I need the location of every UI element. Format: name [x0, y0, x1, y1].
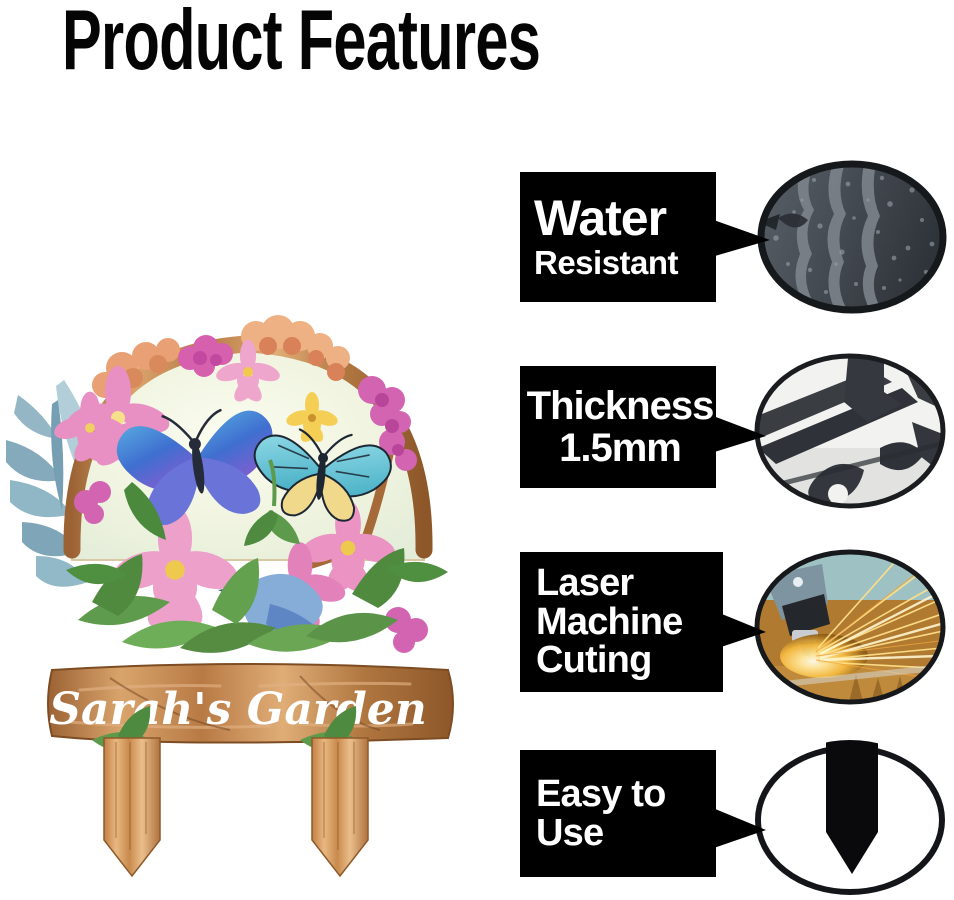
sign-name-text: Sarah's Garden	[49, 684, 427, 735]
feature-image-ground-stake	[752, 740, 948, 898]
feature-label-line: Water	[534, 193, 706, 244]
feature-label-water-resistant: Water Resistant	[520, 172, 716, 302]
feature-laser-cutting: Laser Machine Cuting	[508, 548, 954, 708]
feature-label-line: 1.5mm	[559, 428, 681, 469]
feature-image-laser-sparks	[752, 548, 948, 706]
feature-label-line: Use	[536, 814, 708, 853]
feature-label-line: Machine	[536, 603, 715, 642]
feature-label-line: Cuting	[536, 641, 715, 680]
pointer-arrow	[708, 408, 766, 460]
feature-label-line: Thickness	[527, 386, 714, 427]
feature-label-laser-cutting: Laser Machine Cuting	[520, 552, 723, 692]
product-illustration: Sarah's Garden	[0, 150, 500, 880]
feature-label-line: Resistant	[534, 246, 706, 280]
product-features-infographic: Product Features	[0, 0, 954, 900]
feature-image-water-droplets	[756, 160, 948, 315]
pointer-arrow	[708, 212, 770, 264]
feature-easy-to-use: Easy to Use	[508, 740, 954, 900]
feature-water-resistant: Water Resistant	[508, 160, 954, 315]
feature-label-thickness: Thickness 1.5mm	[520, 366, 716, 488]
feature-label-line: Easy to	[536, 775, 708, 814]
stake-legs	[104, 738, 368, 876]
feature-label-easy-to-use: Easy to Use	[520, 750, 716, 877]
name-plank: Sarah's Garden	[48, 664, 453, 743]
feature-image-metal-thickness	[752, 352, 948, 510]
page-title: Product Features	[62, 0, 540, 85]
feature-thickness: Thickness 1.5mm	[508, 352, 954, 512]
feature-label-line: Laser	[536, 564, 715, 603]
pointer-arrow	[708, 802, 766, 854]
